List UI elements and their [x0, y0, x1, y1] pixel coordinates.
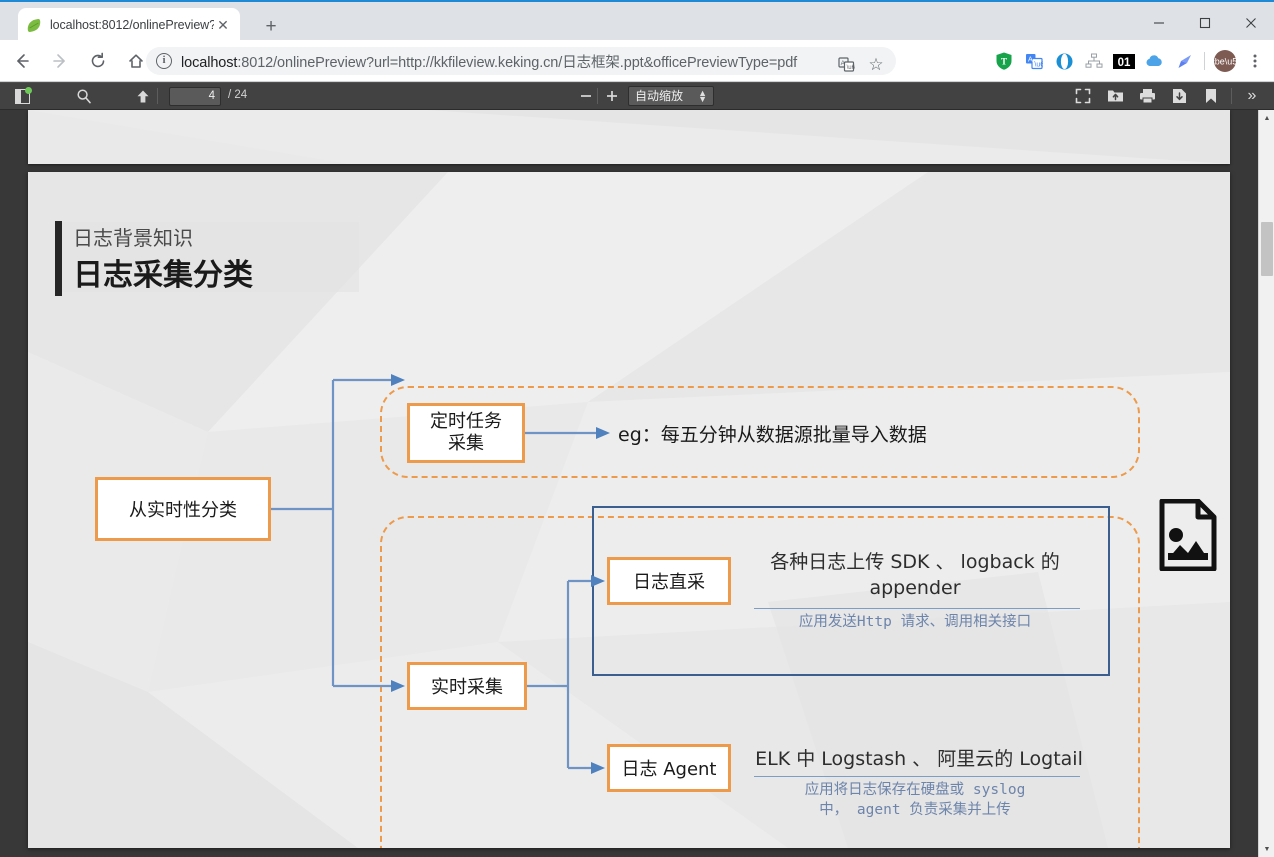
note-log-agent: 应用将日志保存在硬盘或 syslog 中， agent 负责采集并上传 — [750, 780, 1080, 821]
node-realtime-collection: 实时采集 — [407, 662, 527, 710]
address-bar[interactable]: i localhost:8012/onlinePreview?url=http:… — [146, 47, 896, 75]
zoom-out-button[interactable] — [574, 85, 598, 107]
browser-tab[interactable]: localhost:8012/onlinePreview? ✕ — [18, 8, 240, 42]
chevron-updown-icon: ▲▼ — [698, 90, 707, 102]
desc-log-agent: ELK 中 Logstash 、 阿里云的 Logtail — [754, 744, 1084, 771]
svg-text:A: A — [840, 60, 845, 67]
reload-icon[interactable] — [82, 45, 114, 77]
extensions-strip: T A\u6587 01 \u7cbe\u534e — [989, 45, 1270, 77]
fullscreen-icon[interactable] — [1067, 85, 1099, 107]
browser-window: localhost:8012/onlinePreview? ✕ + — [0, 0, 1274, 857]
divider — [157, 88, 158, 104]
vertical-scrollbar[interactable]: ▲ ▼ — [1258, 110, 1274, 857]
svg-text:01: 01 — [1118, 57, 1131, 69]
page-total-label: / 24 — [228, 89, 247, 101]
pdf-viewer-area[interactable]: 日志背景知识 日志采集分类 — [0, 110, 1258, 857]
pdf-page-previous — [28, 110, 1230, 164]
translate-icon[interactable]: A\u6587 — [831, 49, 861, 79]
pdf-viewer-toolbar: 4 / 24 自动缩放 ▲▼ — [0, 82, 1274, 110]
sitemap-icon[interactable] — [1079, 46, 1109, 76]
print-icon[interactable] — [1131, 85, 1163, 107]
zoom-in-button[interactable] — [600, 85, 624, 107]
svg-text:T: T — [1001, 57, 1007, 67]
search-icon[interactable] — [72, 85, 96, 107]
pdf-page-current: 日志背景知识 日志采集分类 — [28, 172, 1230, 848]
pdf-right-tools: » — [1067, 85, 1268, 107]
close-icon[interactable] — [1228, 4, 1274, 42]
svg-text:A: A — [1028, 57, 1033, 64]
url-text: localhost:8012/onlinePreview?url=http://… — [181, 51, 797, 72]
spring-leaf-icon — [26, 17, 42, 33]
zoom-scale-select[interactable]: 自动缩放 ▲▼ — [628, 86, 714, 106]
divider — [754, 776, 1080, 777]
bookmark-icon[interactable] — [1195, 85, 1227, 107]
maximize-icon[interactable] — [1182, 4, 1228, 42]
opera-circle-icon[interactable] — [1049, 46, 1079, 76]
sidebar-toggle-icon[interactable] — [8, 85, 36, 107]
minimize-icon[interactable] — [1136, 4, 1182, 42]
title-bar: localhost:8012/onlinePreview? ✕ + — [0, 0, 1274, 40]
note-log-direct: 应用发送Http 请求、调用相关接口 — [750, 612, 1080, 632]
page-number-input[interactable]: 4 — [169, 87, 221, 106]
scrollbar-thumb[interactable] — [1261, 222, 1273, 276]
google-translate-icon[interactable]: A\u6587 — [1019, 46, 1049, 76]
desc-scheduled: eg：每五分钟从数据源批量导入数据 — [618, 420, 927, 447]
window-controls — [1136, 4, 1274, 42]
cloud-icon[interactable] — [1139, 46, 1169, 76]
svg-text:\u6587: \u6587 — [1034, 62, 1043, 69]
forward-arrow-icon — [44, 45, 76, 77]
tampermonkey-icon[interactable]: T — [989, 46, 1019, 76]
desc-log-direct: 各种日志上传 SDK 、 logback 的 appender — [750, 550, 1080, 601]
divider — [1231, 88, 1232, 104]
close-icon[interactable]: ✕ — [214, 16, 232, 34]
divider — [597, 88, 598, 104]
three-dot-menu-icon[interactable] — [1240, 46, 1270, 76]
zoom-scale-value: 自动缩放 — [635, 89, 683, 103]
scroll-down-icon[interactable]: ▼ — [1259, 841, 1274, 857]
node-log-agent: 日志 Agent — [607, 744, 731, 792]
node-log-direct: 日志直采 — [607, 557, 731, 605]
node-classify-by-realtime: 从实时性分类 — [95, 477, 271, 541]
node-scheduled-label: 定时任务采集 — [430, 411, 502, 456]
node-scheduled-collection: 定时任务采集 — [407, 403, 525, 463]
new-tab-button[interactable]: + — [258, 15, 284, 41]
site-info-icon[interactable]: i — [156, 53, 172, 69]
open-file-icon[interactable] — [1099, 85, 1131, 107]
omnibox-actions: A\u6587 ☆ — [831, 49, 891, 79]
slide-content: 日志背景知识 日志采集分类 — [28, 172, 1230, 848]
star-icon[interactable]: ☆ — [861, 49, 891, 79]
svg-text:\u7cbe\u534e: \u7cbe\u534e — [1213, 57, 1237, 67]
download-icon[interactable] — [1163, 85, 1195, 107]
kite-icon[interactable] — [1169, 46, 1199, 76]
svg-text:\u6587: \u6587 — [846, 65, 854, 71]
tab-title: localhost:8012/onlinePreview? — [50, 18, 214, 32]
divider — [1204, 52, 1205, 70]
divider — [754, 608, 1080, 609]
back-arrow-icon[interactable] — [6, 45, 38, 77]
more-tools-button[interactable]: » — [1236, 85, 1268, 107]
previous-page-icon[interactable] — [132, 85, 154, 107]
zero-one-badge-icon[interactable]: 01 — [1109, 46, 1139, 76]
broken-image-placeholder-icon — [1158, 499, 1218, 571]
scroll-up-icon[interactable]: ▲ — [1259, 110, 1274, 126]
profile-avatar[interactable]: \u7cbe\u534e — [1210, 46, 1240, 76]
navigation-bar: i localhost:8012/onlinePreview?url=http:… — [0, 40, 1274, 82]
